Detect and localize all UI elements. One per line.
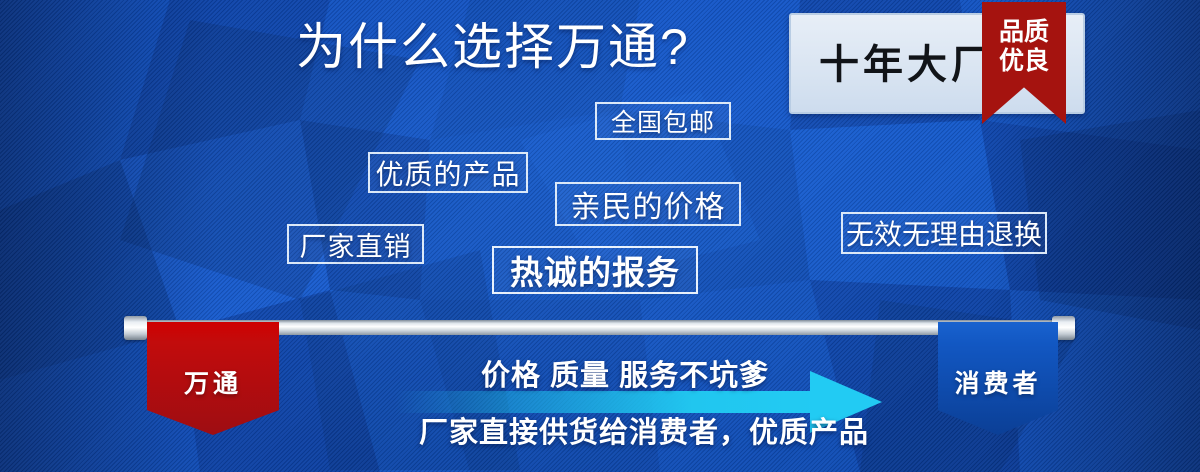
feature-tag-factory-direct: 厂家直销 (287, 224, 424, 264)
feature-tag-quality-product: 优质的产品 (368, 152, 528, 193)
badge-title: 十年大厂 (819, 39, 995, 91)
rod-cap-left-icon (124, 316, 147, 340)
feature-tag-nationwide-shipping: 全国包邮 (595, 102, 731, 140)
page-title: 为什么选择万通? (296, 18, 690, 76)
ribbon-label: 品质 优良 (982, 18, 1066, 76)
feature-tag-sincere-service: 热诚的报务 (492, 246, 698, 294)
flow-sub-copy: 厂家直接供货给消费者，优质产品 (419, 409, 869, 451)
feature-tag-free-returns: 无效无理由退换 (841, 212, 1047, 254)
feature-tag-friendly-price: 亲民的价格 (555, 182, 741, 226)
ribbon-shape: 品质 优良 (982, 2, 1066, 124)
flag-consumer-label: 消费者 (954, 364, 1041, 400)
promo-banner: 为什么选择万通? 十年大厂 品质 优良 全国包邮 优质的产品 亲民的价格 厂家直… (0, 0, 1200, 472)
flag-manufacturer-label: 万通 (184, 364, 242, 400)
flow-headline-copy: 价格 质量 服务不坑爹 (481, 352, 769, 394)
quality-badge: 十年大厂 品质 优良 (789, 13, 1085, 114)
